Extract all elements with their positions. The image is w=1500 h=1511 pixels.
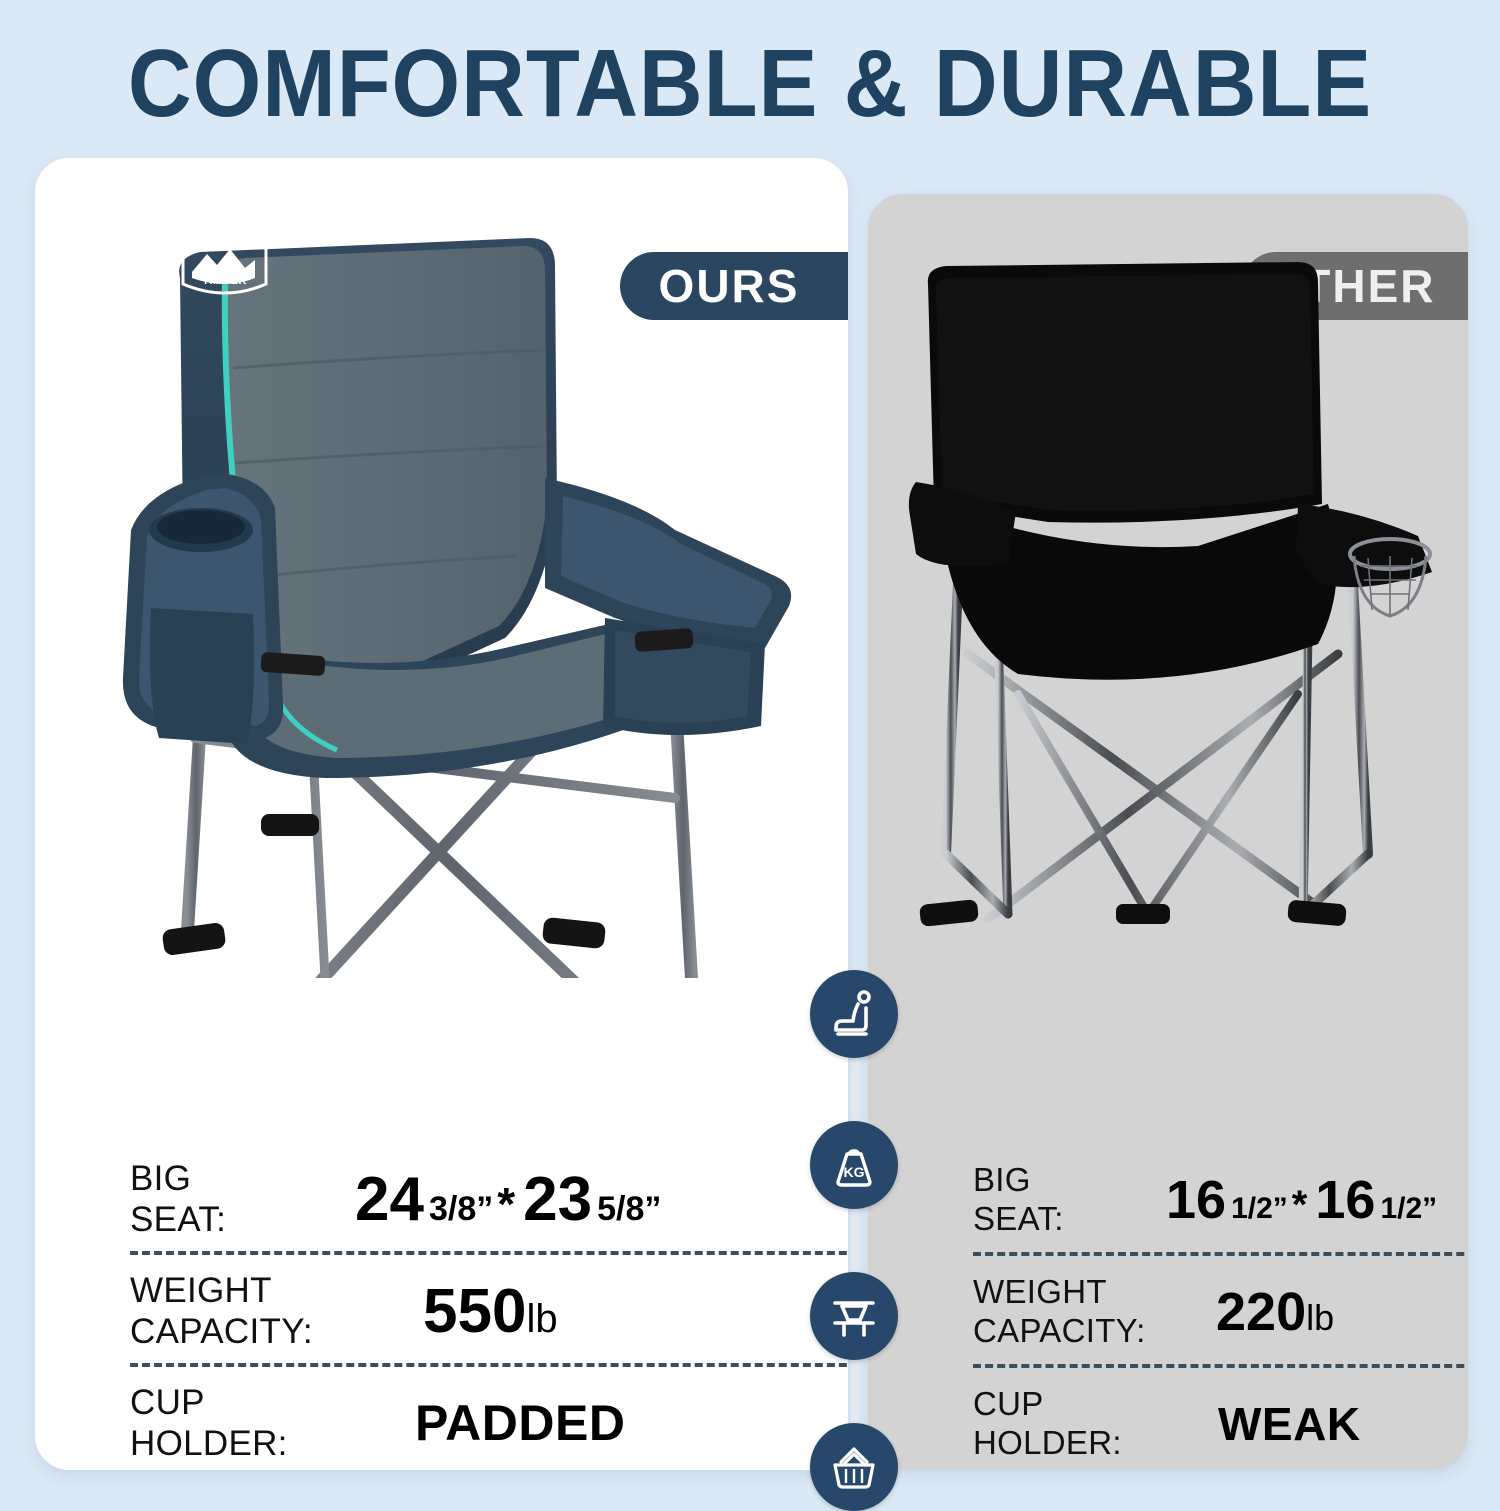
spec-row-weight: WEIGHT CAPACITY: 550 lb bbox=[130, 1255, 848, 1367]
comparison-icon-column: KG bbox=[810, 970, 900, 1470]
svg-text:KG: KG bbox=[844, 1164, 865, 1180]
spec-label-weight: WEIGHT CAPACITY: bbox=[130, 1270, 345, 1353]
spec-row-weight: WEIGHT CAPACITY: 220 lb bbox=[973, 1256, 1468, 1368]
spec-label-cup-holder: CUP HOLDER: bbox=[130, 1382, 345, 1465]
spec-value-cup-holder: WEAK bbox=[1158, 1397, 1361, 1451]
weight-number: 550 bbox=[423, 1276, 526, 1347]
spec-value-seat: 24 3/8” * 23 5/8” bbox=[345, 1164, 661, 1235]
spec-value-weight: 550 lb bbox=[345, 1276, 558, 1347]
ours-chair-image: TIMBER bbox=[75, 178, 815, 978]
spec-label-seat: BIG SEAT: bbox=[130, 1158, 345, 1241]
cup-holder-icon bbox=[810, 1272, 898, 1360]
seat-depth-whole: 16 bbox=[1315, 1169, 1375, 1231]
spec-label-weight: WEIGHT CAPACITY: bbox=[973, 1273, 1158, 1351]
weight-unit: lb bbox=[526, 1297, 557, 1342]
spec-row-seat: BIG SEAT: 16 1/2” * 16 1/2” bbox=[973, 1144, 1468, 1256]
seat-depth-whole: 23 bbox=[523, 1164, 592, 1235]
seat-width-fraction: 1/2” bbox=[1231, 1192, 1288, 1226]
ours-product-card: OURS bbox=[35, 158, 848, 1470]
icon-column-spine bbox=[851, 1010, 859, 1430]
seat-width-fraction: 3/8” bbox=[429, 1190, 493, 1229]
seat-depth-fraction: 1/2” bbox=[1380, 1192, 1437, 1226]
spec-row-cup-holder: CUP HOLDER: WEAK bbox=[973, 1368, 1468, 1470]
spec-value-weight: 220 lb bbox=[1158, 1281, 1334, 1343]
page-title: COMFORTABLE & DURABLE bbox=[60, 34, 1440, 135]
other-chair-image bbox=[898, 254, 1443, 974]
other-spec-table: BIG SEAT: 16 1/2” * 16 1/2” WEIGHT CAPAC… bbox=[868, 1144, 1468, 1470]
seat-dimension-separator: * bbox=[1292, 1183, 1308, 1228]
seat-depth-fraction: 5/8” bbox=[597, 1190, 661, 1229]
spec-row-seat: BIG SEAT: 24 3/8” * 23 5/8” bbox=[130, 1143, 848, 1255]
svg-text:TIMBER: TIMBER bbox=[202, 275, 247, 287]
seat-dimension-separator: * bbox=[497, 1177, 515, 1231]
other-product-card: OTHER bbox=[868, 194, 1468, 1470]
car-seat-icon bbox=[810, 970, 898, 1058]
seat-width-whole: 16 bbox=[1166, 1169, 1226, 1231]
spec-label-cup-holder: CUP HOLDER: bbox=[973, 1385, 1158, 1463]
spec-row-cup-holder: CUP HOLDER: PADDED bbox=[130, 1367, 848, 1470]
seat-width-whole: 24 bbox=[355, 1164, 424, 1235]
spec-label-seat: BIG SEAT: bbox=[973, 1161, 1158, 1239]
weight-unit: lb bbox=[1306, 1297, 1334, 1339]
spec-value-cup-holder: PADDED bbox=[345, 1394, 625, 1452]
spec-value-seat: 16 1/2” * 16 1/2” bbox=[1158, 1169, 1437, 1231]
storage-basket-icon bbox=[810, 1423, 898, 1511]
weight-kg-icon: KG bbox=[810, 1121, 898, 1209]
ours-spec-table: BIG SEAT: 24 3/8” * 23 5/8” WEIGHT CAPAC… bbox=[35, 1143, 848, 1470]
weight-number: 220 bbox=[1216, 1281, 1306, 1343]
